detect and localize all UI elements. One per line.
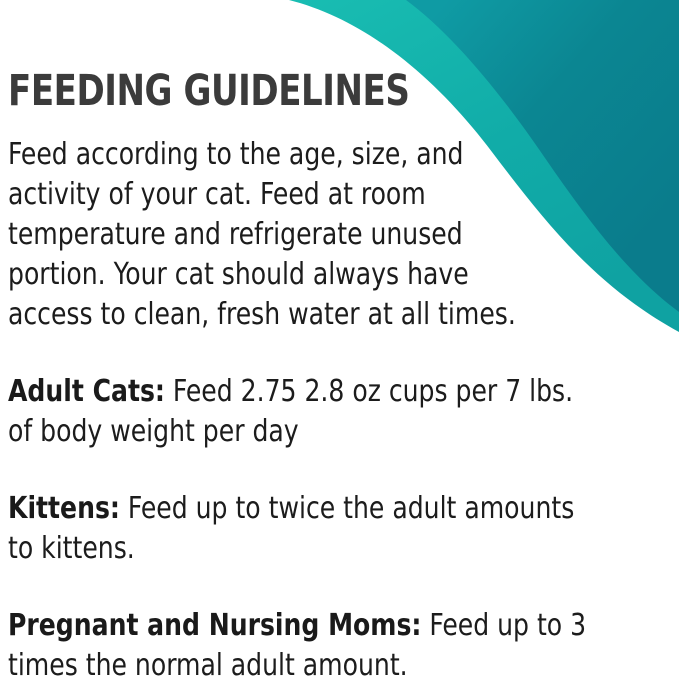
feeding-section-pregnant-nursing-moms: Pregnant and Nursing Moms: Feed up to 3 … — [8, 606, 603, 683]
adult-cats-label: Adult Cats: — [8, 374, 165, 409]
intro-paragraph: Feed according to the age, size, and act… — [8, 113, 547, 335]
feeding-section-kittens: Kittens: Feed up to twice the adult amou… — [8, 489, 603, 569]
content-column: FEEDING GUIDELINES Feed according to the… — [8, 0, 658, 683]
page-title: FEEDING GUIDELINES — [8, 0, 580, 113]
kittens-label: Kittens: — [8, 491, 120, 526]
pregnant-nursing-moms-label: Pregnant and Nursing Moms: — [8, 608, 421, 643]
feeding-guidelines-panel: FEEDING GUIDELINES Feed according to the… — [0, 0, 679, 683]
feeding-section-adult-cats: Adult Cats: Feed 2.75 2.8 oz cups per 7 … — [8, 372, 603, 452]
